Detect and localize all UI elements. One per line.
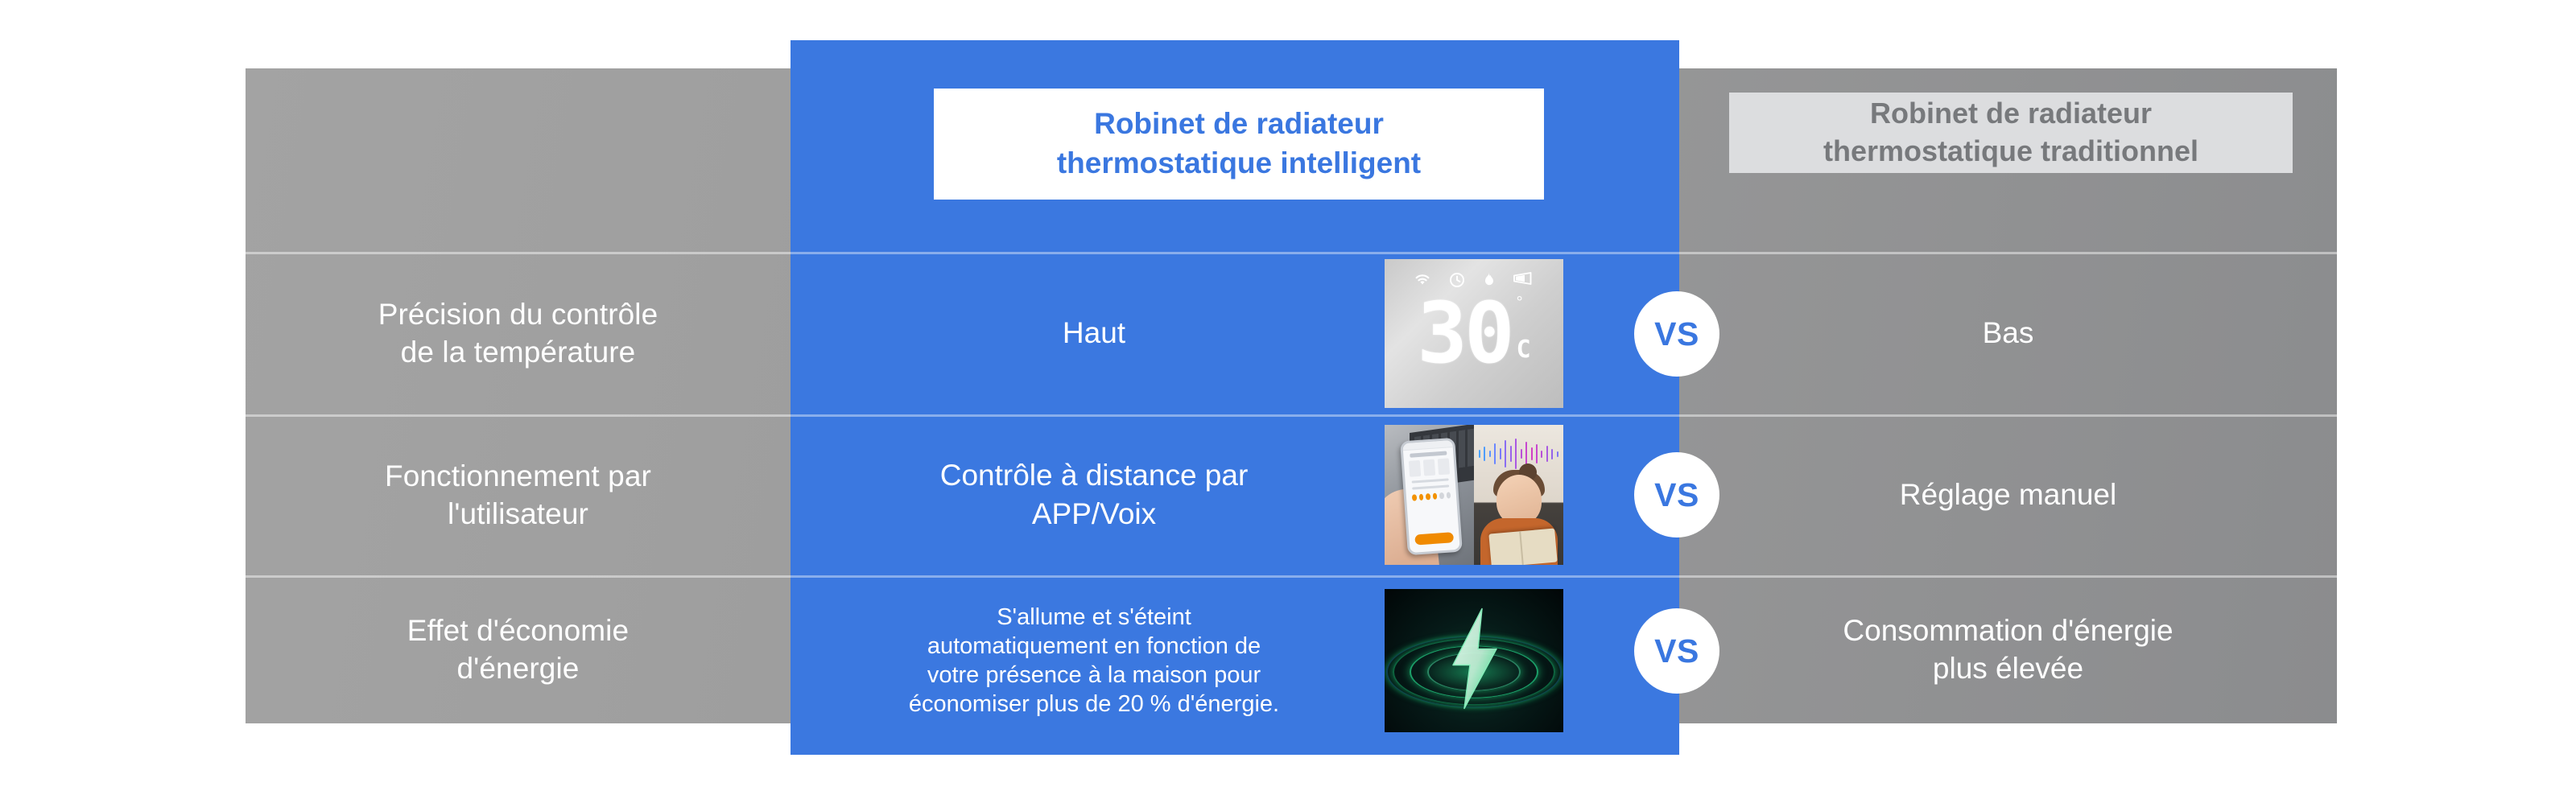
vs-label: VS	[1654, 315, 1699, 353]
traditional-value-energy-saving: Consommation d'énergie plus élevée	[1679, 575, 2337, 723]
feature-label-user-operation: Fonctionnement par l'utilisateur	[246, 414, 791, 575]
celsius-unit: C	[1517, 338, 1531, 362]
phone-cta-button	[1414, 532, 1454, 545]
battery-icon	[1513, 272, 1535, 289]
traditional-value-user-operation: Réglage manuel	[1679, 414, 2337, 575]
smart-value-text: Haut	[1063, 316, 1125, 349]
feature-label-line1: Fonctionnement par	[385, 459, 651, 492]
traditional-header-line2: thermostatique traditionnel	[1823, 134, 2198, 167]
smart-value-user-operation: Contrôle à distance par APP/Voix	[791, 456, 1385, 533]
vs-label: VS	[1654, 476, 1699, 514]
smart-value-line4: économiser plus de 20 % d'énergie.	[909, 691, 1279, 717]
thermostat-display-image: 30 ° C	[1385, 259, 1563, 408]
traditional-value-temperature-accuracy: Bas	[1679, 252, 2337, 414]
feature-label-temperature-accuracy: Précision du contrôle de la température	[246, 252, 791, 414]
vs-label: VS	[1654, 632, 1699, 670]
phone-text-line	[1412, 478, 1449, 483]
smart-header-line2: thermostatique intelligent	[1057, 146, 1421, 179]
face-shape	[1496, 475, 1542, 525]
degree-symbol: °	[1517, 295, 1523, 311]
feature-label-energy-saving: Effet d'économie d'énergie	[246, 575, 791, 723]
traditional-value-text: Bas	[1983, 314, 2034, 352]
vs-badge: VS	[1634, 291, 1719, 377]
phone-content-grid	[1409, 458, 1450, 476]
phone-app-photo	[1385, 425, 1474, 565]
smartphone-shape	[1400, 438, 1463, 555]
phone-title-bar	[1410, 451, 1447, 458]
traditional-column-header: Robinet de radiateur thermostatique trad…	[1729, 93, 2293, 173]
smart-value-line3: votre présence à la maison pour	[927, 662, 1261, 688]
media-slot	[1385, 425, 1666, 565]
smart-column-panel: Robinet de radiateur thermostatique inte…	[791, 40, 1679, 755]
smart-row-temperature-accuracy: Haut	[791, 252, 1679, 414]
smart-value-temperature-accuracy: Haut	[791, 314, 1385, 352]
smart-value-line2: automatiquement en fonction de	[927, 633, 1261, 659]
traditional-value-line2: plus élevée	[1933, 652, 2083, 685]
app-and-voice-control-image	[1385, 425, 1563, 565]
lightning-bolt-icon	[1445, 607, 1503, 710]
traditional-value-text: Réglage manuel	[1900, 476, 2116, 513]
thermostat-temperature-value: 30	[1417, 291, 1511, 375]
traditional-header-line1: Robinet de radiateur	[1870, 97, 2152, 130]
smart-value-energy-saving: S'allume et s'éteint automatiquement en …	[791, 603, 1385, 719]
feature-label-line1: Précision du contrôle	[378, 298, 658, 331]
phone-statusbar	[1402, 440, 1452, 451]
vs-badge: VS	[1634, 452, 1719, 538]
voice-control-photo	[1474, 425, 1563, 565]
smart-header-line1: Robinet de radiateur	[1094, 107, 1384, 140]
voice-waveform-icon	[1479, 438, 1558, 470]
smart-column-header: Robinet de radiateur thermostatique inte…	[934, 89, 1544, 200]
traditional-value-line1: Consommation d'énergie	[1843, 614, 2173, 647]
feature-label-line2: d'énergie	[457, 652, 580, 685]
comparison-infographic: Robinet de radiateur thermostatique trad…	[0, 0, 2576, 795]
smart-row-energy-saving: S'allume et s'éteint automatiquement en …	[791, 575, 1679, 746]
feature-label-line2: de la température	[401, 336, 636, 369]
media-slot	[1385, 589, 1666, 732]
smart-value-line1: S'allume et s'éteint	[997, 604, 1191, 630]
media-slot: 30 ° C	[1385, 259, 1666, 408]
smart-row-user-operation: Contrôle à distance par APP/Voix	[791, 414, 1679, 575]
smart-value-line1: Contrôle à distance par	[940, 459, 1249, 492]
feature-label-line2: l'utilisateur	[448, 497, 588, 530]
smart-value-line2: APP/Voix	[1032, 497, 1156, 530]
thermostat-unit-group: ° C	[1517, 295, 1531, 362]
feature-label-line1: Effet d'économie	[407, 614, 629, 647]
energy-saving-bolt-image	[1385, 589, 1563, 732]
vs-badge: VS	[1634, 608, 1719, 694]
phone-text-line	[1412, 484, 1449, 489]
phone-level-dots	[1412, 492, 1451, 500]
book-shape	[1488, 529, 1557, 565]
thermostat-temperature-readout: 30 ° C	[1385, 291, 1563, 375]
